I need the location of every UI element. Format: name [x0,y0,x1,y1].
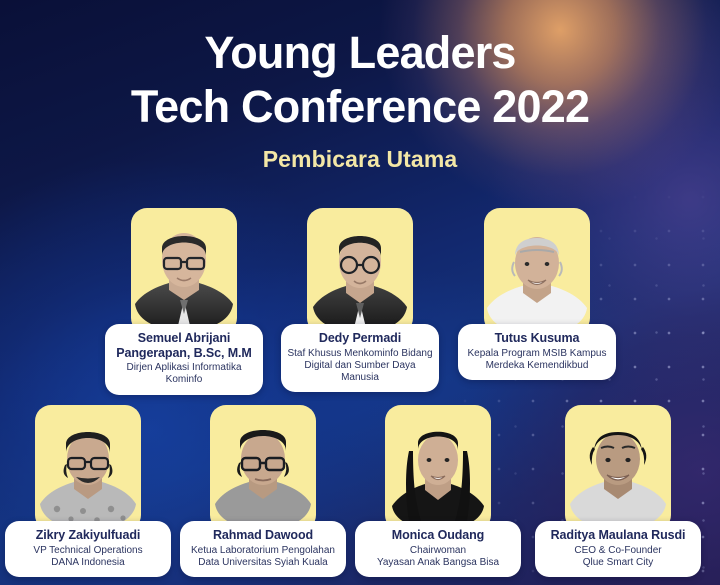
title-line-2: Tech Conference 2022 [0,80,720,134]
poster-header: Young Leaders Tech Conference 2022 Pembi… [0,0,720,173]
speaker-role-line-1: Dirjen Aplikasi Informatika Kominfo [111,362,257,387]
speaker-name: Zikry Zakiyulfuadi [11,528,165,543]
speaker-role-line-2: Qlue Smart City [541,557,695,569]
speaker-name: Dedy Permadi [287,331,433,346]
portrait-image [35,405,141,531]
speaker-name-card: Dedy Permadi Staf Khusus Menkominfo Bida… [281,324,439,392]
page-title: Young Leaders Tech Conference 2022 [0,0,720,134]
speaker-role: VP Technical Operations DANA Indonesia [11,545,165,570]
speaker-role: CEO & Co-Founder Qlue Smart City [541,545,695,570]
speaker-name-card: Tutus Kusuma Kepala Program MSIB Kampus … [458,324,616,380]
speaker-name-line-1: Semuel Abrijani [111,331,257,346]
portrait-image [131,208,237,334]
portrait-image [484,208,590,334]
speaker-role-line-1: VP Technical Operations [11,545,165,557]
speaker-role: Chairwoman Yayasan Anak Bangsa Bisa [361,545,515,570]
speaker-role-line-1: Kepala Program MSIB Kampus [464,348,610,360]
speaker-name-card: Monica Oudang Chairwoman Yayasan Anak Ba… [355,521,521,577]
speaker-name-line-1: Monica Oudang [361,528,515,543]
speaker-role-line-2: Merdeka Kemendikbud [464,360,610,372]
speaker-photo-tile [565,405,671,531]
speaker-role-line-2: DANA Indonesia [11,557,165,569]
speaker-role-line-2: Yayasan Anak Bangsa Bisa [361,557,515,569]
speaker-name-line-1: Dedy Permadi [287,331,433,346]
speaker-name-card: Zikry Zakiyulfuadi VP Technical Operatio… [5,521,171,577]
speaker-name-line-1: Raditya Maulana Rusdi [541,528,695,543]
portrait-image [307,208,413,334]
speaker-photo-tile [307,208,413,334]
speaker-name-line-1: Rahmad Dawood [186,528,340,543]
poster-subtitle: Pembicara Utama [0,146,720,173]
speaker-role-line-1: CEO & Co-Founder [541,545,695,557]
title-line-1: Young Leaders [0,26,720,80]
speaker-name: Rahmad Dawood [186,528,340,543]
speaker-name-card: Semuel Abrijani Pangerapan, B.Sc, M.M Di… [105,324,263,395]
speaker-role-line-1: Staf Khusus Menkominfo Bidang [287,348,433,360]
speaker-name-card: Rahmad Dawood Ketua Laboratorium Pengola… [180,521,346,577]
speaker-name-card: Raditya Maulana Rusdi CEO & Co-Founder Q… [535,521,701,577]
speaker-photo-tile [484,208,590,334]
speaker-role-line-2: Digital dan Sumber Daya Manusia [287,360,433,385]
speaker-photo-tile [35,405,141,531]
speaker-name-line-2: Pangerapan, B.Sc, M.M [111,346,257,361]
speaker-name: Raditya Maulana Rusdi [541,528,695,543]
portrait-image [210,405,316,531]
speaker-photo-tile [385,405,491,531]
speaker-photo-tile [131,208,237,334]
speaker-role-line-1: Ketua Laboratorium Pengolahan [186,545,340,557]
speaker-role: Ketua Laboratorium Pengolahan Data Unive… [186,545,340,570]
speaker-name-line-1: Zikry Zakiyulfuadi [11,528,165,543]
speaker-name: Semuel Abrijani Pangerapan, B.Sc, M.M [111,331,257,360]
speaker-photo-tile [210,405,316,531]
speaker-role: Kepala Program MSIB Kampus Merdeka Kemen… [464,348,610,373]
speaker-name-line-1: Tutus Kusuma [464,331,610,346]
speaker-role: Staf Khusus Menkominfo Bidang Digital da… [287,348,433,385]
portrait-image [385,405,491,531]
speaker-name: Monica Oudang [361,528,515,543]
speaker-role-line-1: Chairwoman [361,545,515,557]
speaker-role-line-2: Data Universitas Syiah Kuala [186,557,340,569]
portrait-image [565,405,671,531]
speaker-name: Tutus Kusuma [464,331,610,346]
speaker-role: Dirjen Aplikasi Informatika Kominfo [111,362,257,387]
